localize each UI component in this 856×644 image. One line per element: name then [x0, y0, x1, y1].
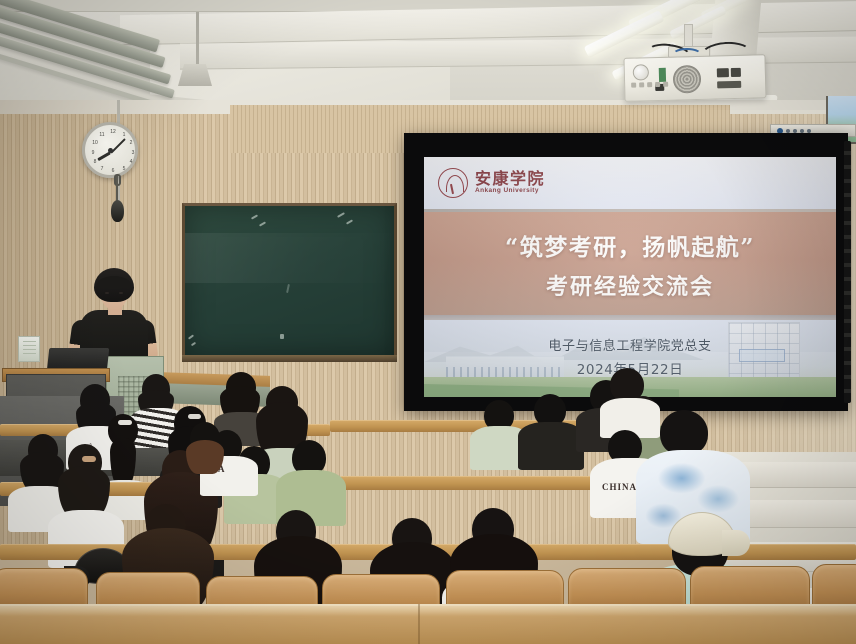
desk-seam [418, 604, 420, 644]
clock-numeral: 5 [120, 165, 128, 173]
slide-header: 安康学院 Ankang University [424, 157, 836, 209]
chalk-mark [280, 334, 284, 339]
chalk-tray [182, 355, 397, 362]
shirt-graphic-china: CHINA [602, 482, 637, 492]
chalkboard-glare [185, 233, 394, 284]
clock-numeral: 12 [109, 128, 117, 136]
lamp-rod [196, 12, 199, 68]
lecture-hall-photo: 12 1 2 3 4 5 6 7 8 9 10 11 [0, 0, 856, 644]
projector-port-icon [717, 68, 729, 77]
control-dot-icon [793, 129, 797, 133]
clock-numeral: 2 [127, 139, 135, 147]
control-dot-icon [786, 129, 790, 133]
clock-center-pin-icon [108, 148, 113, 153]
control-dot-icon [807, 129, 811, 133]
hair-tie-icon [188, 414, 201, 419]
lectern-paper-holder [18, 336, 40, 362]
university-name-cn: 安康学院 [475, 171, 545, 188]
projector-port-icon [717, 81, 741, 89]
pendulum-weight-icon [111, 200, 124, 222]
slide-organizer: 电子与信息工程学院党总支 [548, 335, 711, 354]
clock-numeral: 7 [98, 165, 106, 173]
university-logo-text: 安康学院 Ankang University [475, 171, 545, 195]
chalk-mark [286, 284, 290, 293]
clock-numeral: 4 [127, 158, 135, 166]
projector-buttons [631, 82, 668, 88]
student-hair [186, 440, 224, 474]
chalk-mark [188, 334, 194, 339]
clock-numeral: 3 [129, 149, 137, 157]
presenter-eye [119, 292, 123, 294]
projector-button-icon [631, 83, 636, 88]
slide-title-line-1: “筑梦考研，扬帆起航” [505, 228, 755, 262]
projector-button-icon [663, 82, 668, 87]
clock-numeral: 11 [98, 131, 106, 139]
hair-tie-icon [118, 420, 132, 425]
projector-button-icon [655, 82, 660, 87]
control-dot-icon [800, 129, 804, 133]
slide-title-line-2: 考研经验交流会 [546, 269, 714, 301]
clock-numeral: 10 [91, 139, 99, 147]
projector-indicator-icon [659, 68, 666, 82]
slide-title-band: “筑梦考研，扬帆起航” 考研经验交流会 [424, 212, 836, 317]
presentation-slide: 安康学院 Ankang University “筑梦考研，扬帆起航” 考研经验交… [424, 157, 836, 397]
chalk-mark [346, 219, 353, 224]
hair-clip-icon [82, 456, 96, 462]
student-head [610, 368, 644, 402]
wall-clock: 12 1 2 3 4 5 6 7 8 9 10 11 [82, 122, 138, 178]
clock-pendulum [110, 176, 124, 222]
clock-hour-hand-icon [98, 152, 111, 161]
presenter-fringe [97, 276, 131, 289]
projector-button-icon [647, 82, 652, 87]
chalk-mark [337, 212, 345, 218]
projector-button-icon [639, 82, 644, 87]
student-body [518, 422, 584, 470]
projector-port-icon [731, 68, 741, 77]
desk-highlight [0, 604, 856, 616]
cap-brim-icon [722, 530, 750, 556]
clock-numeral: 9 [89, 149, 97, 157]
ankang-university-seal-icon [438, 168, 468, 198]
projector-fan-icon [673, 65, 702, 94]
university-logo: 安康学院 Ankang University [438, 168, 545, 198]
university-name-en: Ankang University [475, 188, 545, 195]
chalk-mark [259, 221, 266, 226]
green-chalkboard [182, 203, 397, 358]
presenter-eye [105, 292, 109, 294]
ceiling-projector [623, 54, 766, 102]
chalk-mark [251, 214, 258, 219]
chalk-mark [191, 342, 196, 347]
projector-lens-icon [633, 64, 649, 80]
